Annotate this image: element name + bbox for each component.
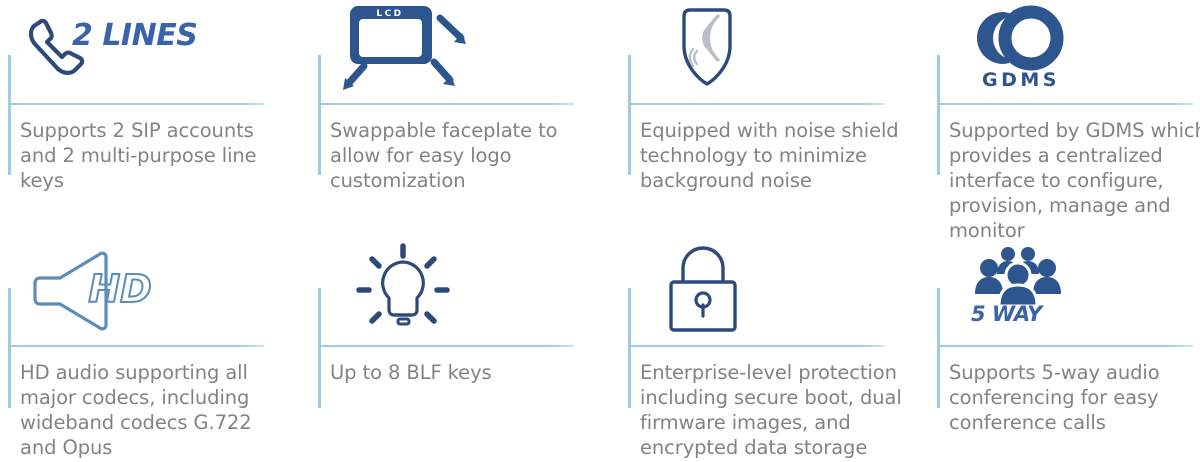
- card-divider: [937, 345, 1193, 347]
- feature-card-faceplate: LCD Swappable faceplate to allow for eas…: [310, 0, 610, 240]
- icon-label-5-way: 5 WAY: [971, 302, 1042, 326]
- feature-card-security: Enterprise-level protection including se…: [620, 240, 920, 462]
- card-divider: [8, 345, 264, 347]
- icon-area: LCD: [318, 0, 610, 96]
- gdms-wordmark: GDMS: [982, 69, 1060, 91]
- feature-description: HD audio supporting all major codecs, in…: [20, 360, 292, 460]
- card-divider: [318, 345, 574, 347]
- icon-area: [318, 240, 610, 340]
- card-divider: [8, 103, 264, 105]
- icon-area: 5 WAY: [937, 240, 1200, 340]
- feature-description: Enterprise-level protection including se…: [640, 360, 912, 460]
- lcd-faceplate-icon: LCD: [328, 0, 498, 96]
- icon-area: GDMS: [937, 0, 1200, 96]
- feature-description: Equipped with noise shield technology to…: [640, 118, 912, 193]
- feature-description: Supports 5-way audio conferencing for ea…: [949, 360, 1200, 435]
- lightbulb-icon: [348, 242, 458, 338]
- feature-description: Supported by GDMS which provides a centr…: [949, 118, 1200, 243]
- card-divider: [937, 103, 1193, 105]
- feature-card-gdms: GDMS Supported by GDMS which provides a …: [929, 0, 1200, 240]
- card-divider: [318, 103, 574, 105]
- feature-grid: 2 LINES Supports 2 SIP accounts and 2 mu…: [0, 0, 1200, 462]
- card-divider: [628, 103, 884, 105]
- icon-area: [628, 240, 920, 340]
- gdms-logo-icon: GDMS: [959, 2, 1089, 94]
- feature-card-2-lines: 2 LINES Supports 2 SIP accounts and 2 mu…: [0, 0, 300, 240]
- icon-area: 2 LINES: [8, 0, 300, 96]
- icon-area: HD: [8, 240, 300, 340]
- feature-description: Swappable faceplate to allow for easy lo…: [330, 118, 602, 193]
- feature-card-noise-shield: Equipped with noise shield technology to…: [620, 0, 920, 240]
- padlock-icon: [652, 242, 752, 338]
- icon-label-2-lines: 2 LINES: [72, 18, 197, 53]
- noise-shield-icon: [652, 2, 762, 94]
- feature-description: Supports 2 SIP accounts and 2 multi-purp…: [20, 118, 292, 193]
- lcd-screen-label: LCD: [376, 9, 403, 19]
- feature-card-hd-audio: HD HD audio supporting all major codecs,…: [0, 240, 300, 462]
- hd-wordmark: HD: [88, 267, 151, 311]
- feature-card-blf-keys: Up to 8 BLF keys: [310, 240, 610, 462]
- hd-speaker-icon: HD: [24, 244, 164, 336]
- card-divider: [628, 345, 884, 347]
- feature-description: Up to 8 BLF keys: [330, 360, 602, 385]
- icon-area: [628, 0, 920, 96]
- feature-card-conference: 5 WAY Supports 5-way audio conferencing …: [929, 240, 1200, 462]
